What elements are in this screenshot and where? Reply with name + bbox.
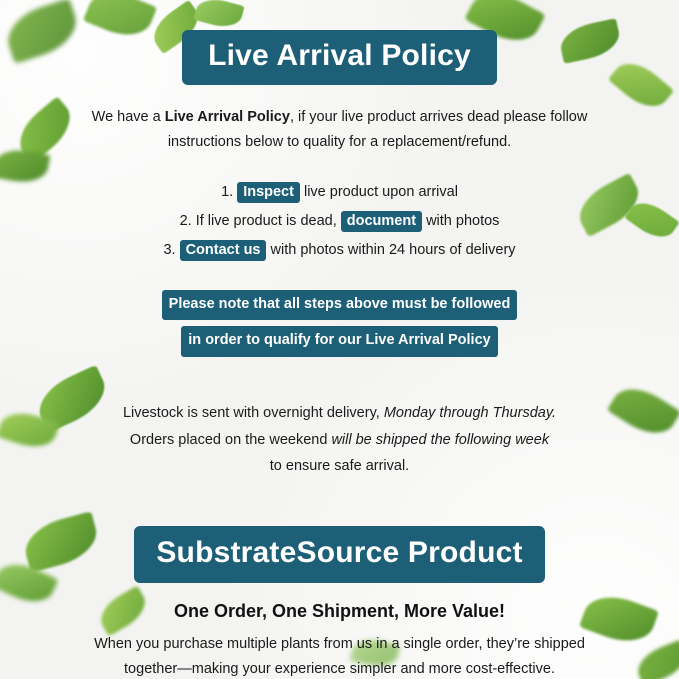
substrate-body-line2: together—making your experience simpler … xyxy=(124,661,555,677)
shipping-line3: to ensure safe arrival. xyxy=(270,458,409,474)
note-line-2: in order to qualify for our Live Arrival… xyxy=(181,326,497,356)
note-line-1: Please note that all steps above must be… xyxy=(162,290,518,320)
step-number: 2. xyxy=(180,213,192,229)
list-item: 1. Inspect live product upon arrival xyxy=(0,178,679,207)
document-content: Live Arrival Policy We have a Live Arriv… xyxy=(0,0,679,679)
intro-text-line2: instructions below to quality for a repl… xyxy=(168,134,511,150)
shipping-schedule: Livestock is sent with overnight deliver… xyxy=(80,400,600,480)
intro-text-emphasis: Live Arrival Policy xyxy=(165,109,290,125)
substrate-body-line1: When you purchase multiple plants from u… xyxy=(94,636,585,652)
step-number: 3. xyxy=(163,242,175,258)
shipping-line1-a: Livestock is sent with overnight deliver… xyxy=(123,405,384,421)
shipping-line2-a: Orders placed on the weekend xyxy=(130,432,332,448)
live-arrival-note: Please note that all steps above must be… xyxy=(0,289,679,358)
substrate-body: When you purchase multiple plants from u… xyxy=(75,632,605,679)
step-highlight-contact-us: Contact us xyxy=(180,240,267,261)
live-arrival-banner-title: Live Arrival Policy xyxy=(182,30,497,85)
shipping-line2-emphasis: will be shipped the following week xyxy=(331,432,549,448)
substrate-tagline: One Order, One Shipment, More Value! xyxy=(0,601,679,622)
policy-page: Live Arrival Policy We have a Live Arriv… xyxy=(0,0,679,679)
live-arrival-intro: We have a Live Arrival Policy, if your l… xyxy=(70,105,610,156)
shipping-line1-emphasis: Monday through Thursday. xyxy=(384,405,556,421)
intro-text-c: , if your live product arrives dead plea… xyxy=(290,109,587,125)
step-post-text: live product upon arrival xyxy=(300,184,458,200)
list-item: 2. If live product is dead, document wit… xyxy=(0,207,679,236)
step-pre-text: If live product is dead, xyxy=(196,213,341,229)
live-arrival-steps: 1. Inspect live product upon arrival 2. … xyxy=(0,178,679,265)
step-number: 1. xyxy=(221,184,233,200)
intro-text-a: We have a xyxy=(92,109,165,125)
step-post-text: with photos within 24 hours of delivery xyxy=(266,242,515,258)
list-item: 3. Contact us with photos within 24 hour… xyxy=(0,236,679,265)
step-highlight-inspect: Inspect xyxy=(237,182,300,203)
step-post-text: with photos xyxy=(422,213,499,229)
step-highlight-document: document xyxy=(341,211,422,232)
substrate-banner-title: SubstrateSource Product xyxy=(134,526,544,583)
